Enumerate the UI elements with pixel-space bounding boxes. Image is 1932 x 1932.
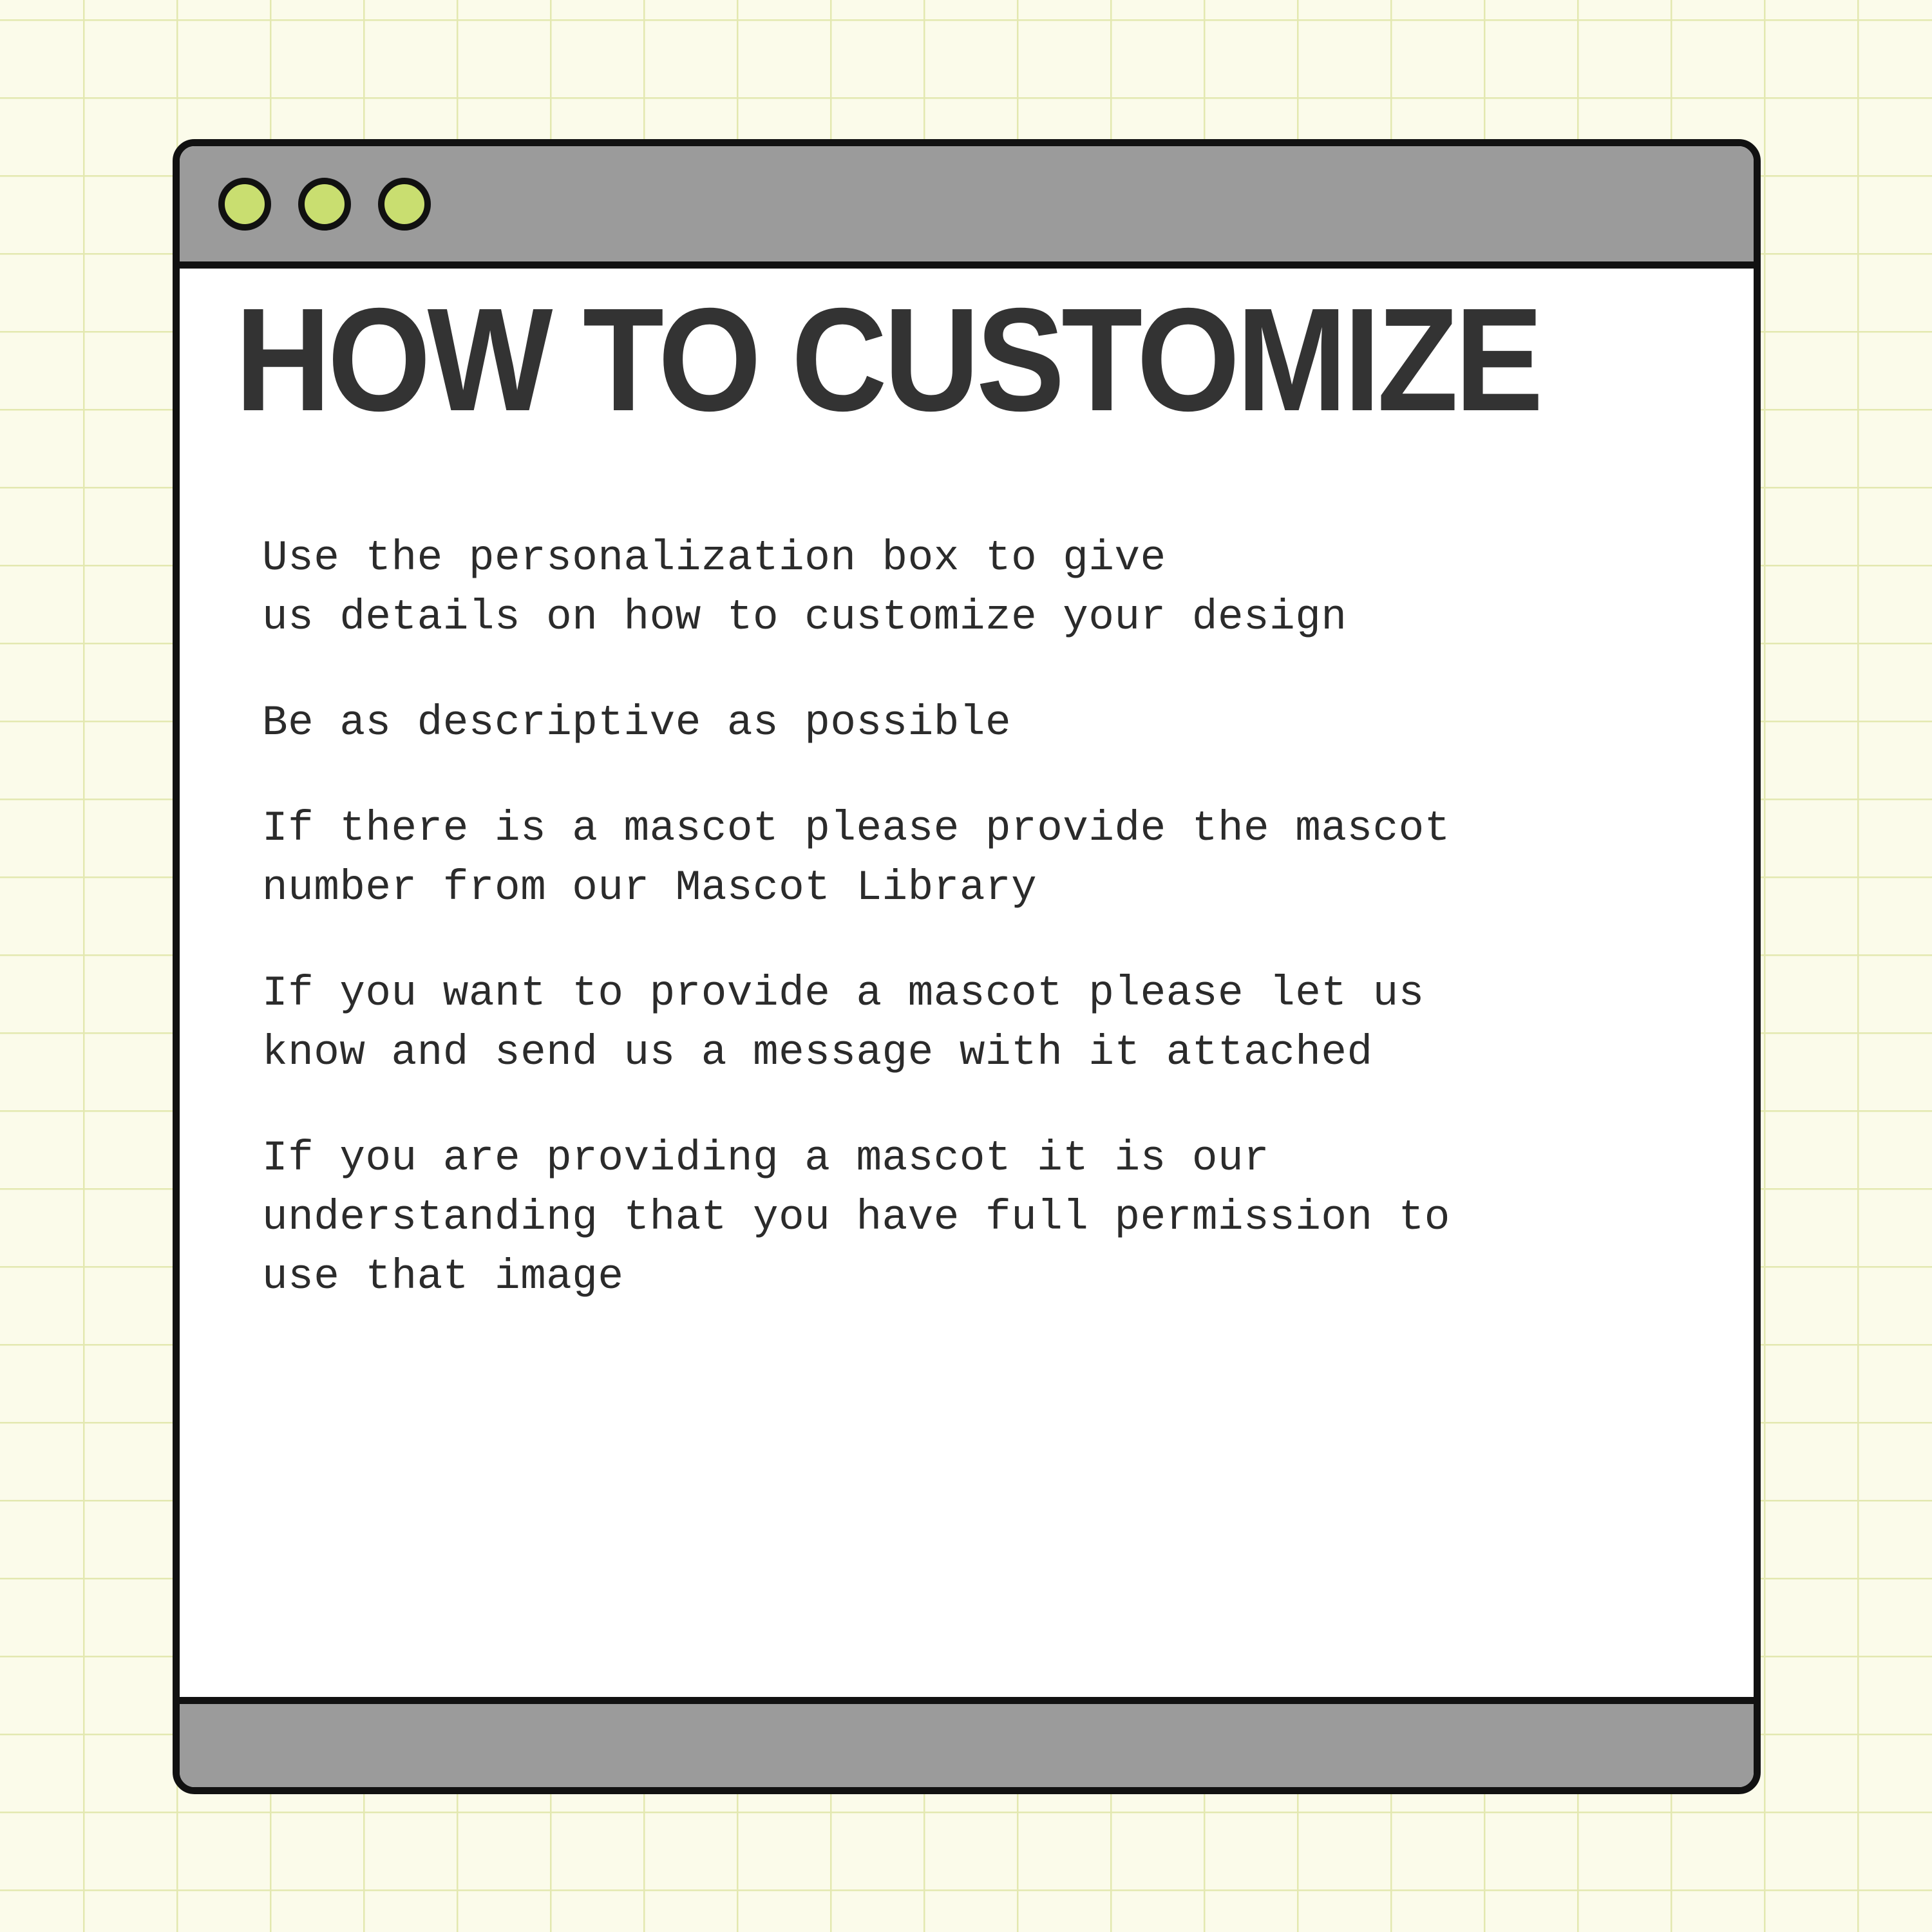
window-content: HOW TO CUSTOMIZE Use the personalization… — [180, 269, 1754, 1697]
window-dot-2-icon[interactable] — [298, 178, 351, 231]
instruction-paragraph-3: If there is a mascot please provide the … — [262, 799, 1741, 918]
instructions-list: Use the personalization box to give us d… — [262, 529, 1741, 1307]
instruction-paragraph-4: If you want to provide a mascot please l… — [262, 964, 1741, 1083]
page-title: HOW TO CUSTOMIZE — [235, 287, 1540, 433]
app-window: HOW TO CUSTOMIZE Use the personalization… — [173, 139, 1761, 1794]
instruction-paragraph-2: Be as descriptive as possible — [262, 694, 1741, 753]
instruction-paragraph-5: If you are providing a mascot it is our … — [262, 1129, 1741, 1307]
window-bottombar — [180, 1697, 1754, 1787]
window-dot-3-icon[interactable] — [378, 178, 431, 231]
instruction-paragraph-1: Use the personalization box to give us d… — [262, 529, 1741, 647]
page-background: { "theme": { "background_color": "#FBFBE… — [0, 0, 1932, 1932]
window-titlebar[interactable] — [180, 146, 1754, 269]
window-dot-1-icon[interactable] — [218, 178, 271, 231]
